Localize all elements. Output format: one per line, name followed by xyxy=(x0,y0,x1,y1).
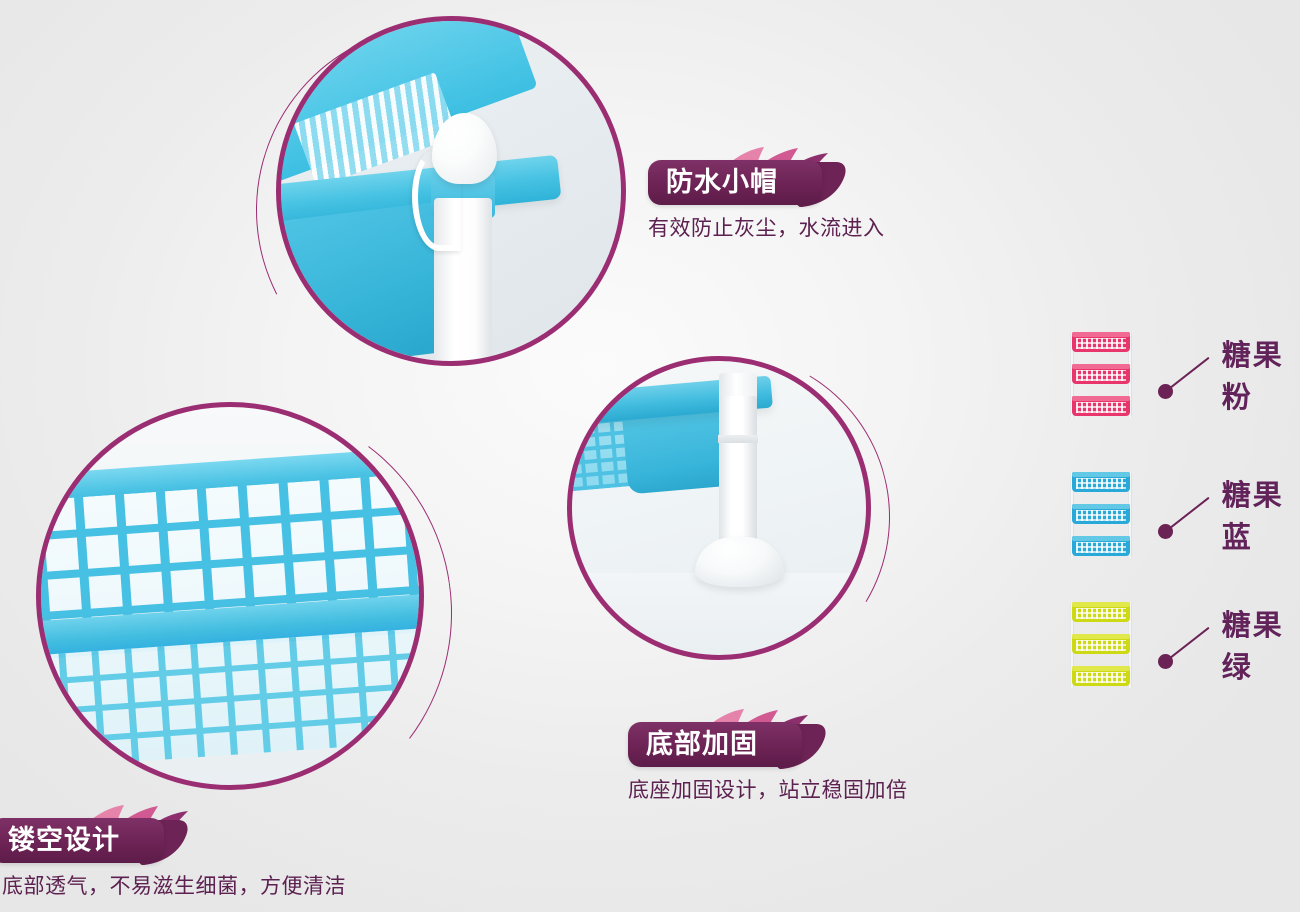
variant-label: 糖果绿 xyxy=(1222,602,1300,686)
feature-description: 有效防止灰尘，水流进入 xyxy=(648,212,885,242)
color-variant-candy-green[interactable]: 糖果绿 xyxy=(1068,600,1300,688)
feature-photo-hollow-design xyxy=(36,402,424,790)
variant-thumbnail xyxy=(1068,330,1124,418)
feature-label-hollow-design: 镂空设计 底部透气，不易滋生细菌，方便清洁 xyxy=(0,818,346,900)
variant-pin-icon xyxy=(1154,611,1216,677)
feature-photo-waterproof-cap xyxy=(276,16,626,366)
variant-label: 糖果粉 xyxy=(1222,332,1300,416)
feature-photo-reinforced-base xyxy=(567,356,871,660)
variant-pin-icon xyxy=(1154,341,1216,407)
feature-description: 底部透气，不易滋生细菌，方便清洁 xyxy=(2,870,346,900)
color-variant-candy-blue[interactable]: 糖果蓝 xyxy=(1068,470,1300,558)
variant-thumbnail xyxy=(1068,470,1124,558)
hollow-grid-image xyxy=(41,407,419,785)
feature-title: 防水小帽 xyxy=(648,160,822,205)
reinforced-base-image xyxy=(572,361,866,655)
feature-title: 镂空设计 xyxy=(0,818,164,863)
feature-title: 底部加固 xyxy=(628,722,802,767)
color-variant-candy-pink[interactable]: 糖果粉 xyxy=(1068,330,1300,418)
product-feature-poster: 防水小帽 有效防止灰尘，水流进入 底部加固 底座加固设计，站立稳固加倍 xyxy=(0,0,1300,912)
variant-thumbnail xyxy=(1068,600,1124,688)
variant-label: 糖果蓝 xyxy=(1222,472,1300,556)
feature-label-reinforced-base: 底部加固 底座加固设计，站立稳固加倍 xyxy=(628,722,908,804)
feature-label-waterproof-cap: 防水小帽 有效防止灰尘，水流进入 xyxy=(648,160,885,242)
waterproof-cap-image xyxy=(281,21,621,361)
variant-pin-icon xyxy=(1154,481,1216,547)
feature-description: 底座加固设计，站立稳固加倍 xyxy=(628,774,908,804)
